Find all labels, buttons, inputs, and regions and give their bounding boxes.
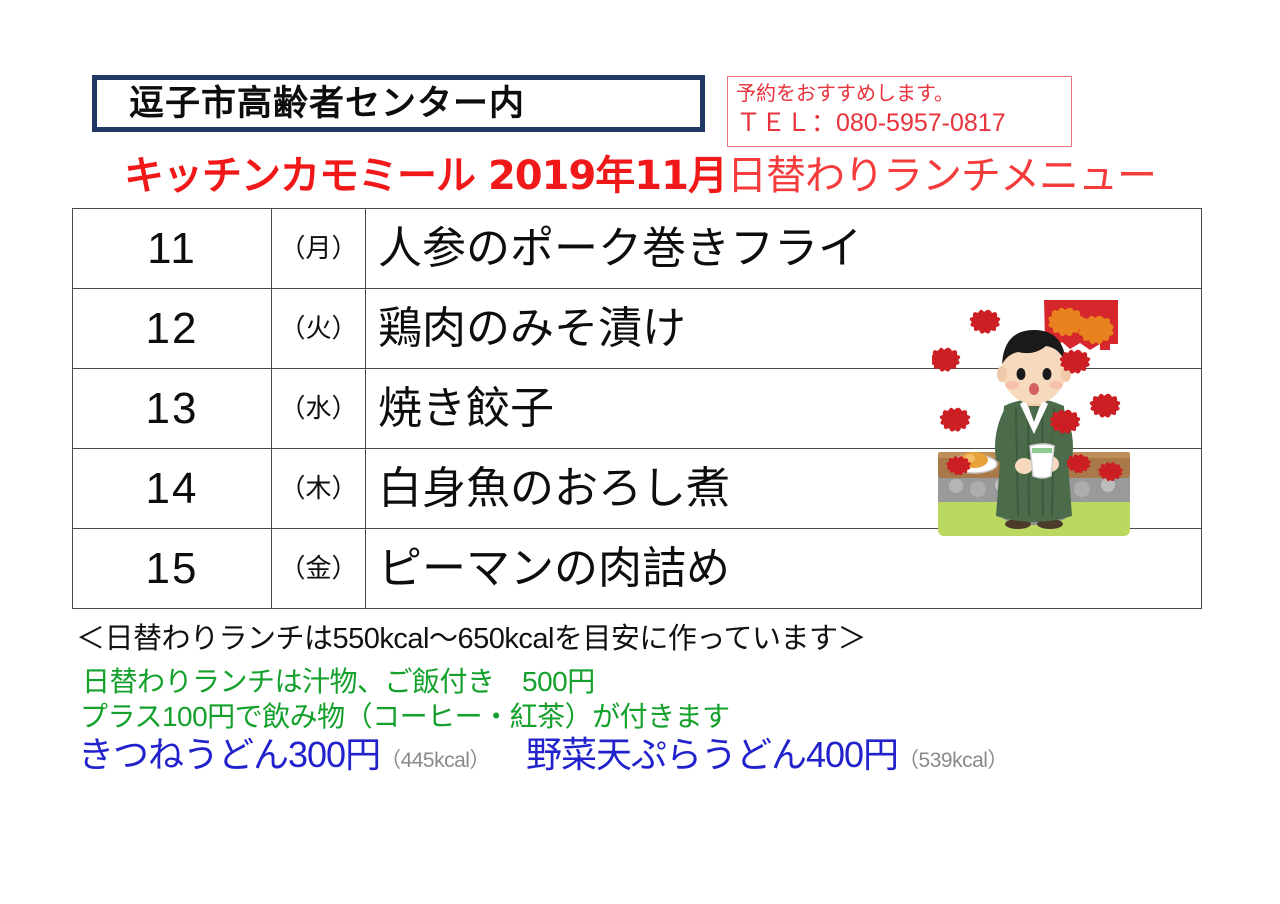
menu-date-cell: 15 bbox=[73, 529, 272, 609]
menu-day-cell: （木） bbox=[272, 449, 366, 529]
menu-day-cell: （月） bbox=[272, 209, 366, 289]
menu-item-cell: 鶏肉のみそ漬け bbox=[366, 289, 1202, 369]
udon-item-kcal: （539kcal） bbox=[898, 749, 1008, 772]
menu-day-label: （木） bbox=[279, 474, 357, 504]
menu-date-cell: 11 bbox=[73, 209, 272, 289]
table-row: 15 （金） ピーマンの肉詰め bbox=[73, 529, 1202, 609]
menu-table-body: 11 （月） 人参のポーク巻きフライ 12 （火） 鶏肉のみそ漬け 13 （水）… bbox=[73, 209, 1202, 609]
menu-item-label: 鶏肉のみそ漬け bbox=[366, 307, 686, 351]
menu-day-cell: （火） bbox=[272, 289, 366, 369]
menu-item-cell: 焼き餃子 bbox=[366, 369, 1202, 449]
table-row: 14 （木） 白身魚のおろし煮 bbox=[73, 449, 1202, 529]
kcal-range-note: ＜日替わりランチは550kcal～650kcalを目安に作っています＞ bbox=[76, 625, 866, 654]
lunch-price-note: 日替わりランチは汁物、ご飯付き 500円 bbox=[82, 668, 595, 696]
menu-date-label: 12 bbox=[146, 304, 199, 353]
page-title-menu-kind: 日替わりランチメニュー bbox=[727, 154, 1156, 198]
menu-date-label: 14 bbox=[146, 464, 199, 513]
menu-item-label: ピーマンの肉詰め bbox=[366, 547, 730, 591]
menu-day-label: （水） bbox=[279, 394, 357, 424]
menu-date-cell: 12 bbox=[73, 289, 272, 369]
menu-item-label: 白身魚のおろし煮 bbox=[366, 467, 730, 511]
menu-day-cell: （金） bbox=[272, 529, 366, 609]
reservation-note-label: 予約をおすすめします。 bbox=[736, 81, 1071, 108]
udon-item-name: 野菜天ぷらうどん400円 bbox=[526, 734, 898, 775]
menu-item-cell: ピーマンの肉詰め bbox=[366, 529, 1202, 609]
table-row: 12 （火） 鶏肉のみそ漬け bbox=[73, 289, 1202, 369]
menu-date-cell: 13 bbox=[73, 369, 272, 449]
venue-name-label: 逗子市高齢者センター内 bbox=[97, 86, 525, 121]
menu-item-cell: 白身魚のおろし煮 bbox=[366, 449, 1202, 529]
udon-item-name: きつねうどん300円 bbox=[78, 734, 380, 775]
udon-price-row: きつねうどん300円（445kcal）野菜天ぷらうどん400円（539kcal） bbox=[78, 737, 1198, 773]
drink-addon-note: プラス100円で飲み物（コーヒー・紅茶）が付きます bbox=[80, 703, 730, 731]
table-row: 11 （月） 人参のポーク巻きフライ bbox=[73, 209, 1202, 289]
page-title: キッチンカモミール 2019年11月日替わりランチメニュー bbox=[0, 156, 1280, 196]
menu-date-label: 15 bbox=[146, 544, 199, 593]
menu-day-label: （金） bbox=[279, 554, 357, 584]
menu-date-label: 13 bbox=[146, 384, 199, 433]
daily-lunch-menu-table: 11 （月） 人参のポーク巻きフライ 12 （火） 鶏肉のみそ漬け 13 （水）… bbox=[72, 208, 1202, 609]
page-title-shop-and-date: キッチンカモミール 2019年11月 bbox=[124, 153, 727, 199]
reservation-phone-box: 予約をおすすめします。 ＴＥＬ：080-5957-0817 bbox=[727, 76, 1072, 147]
menu-item-label: 人参のポーク巻きフライ bbox=[366, 227, 862, 271]
menu-item-cell: 人参のポーク巻きフライ bbox=[366, 209, 1202, 289]
udon-item-kcal: （445kcal） bbox=[380, 749, 490, 772]
menu-date-label: 11 bbox=[147, 224, 197, 273]
table-row: 13 （水） 焼き餃子 bbox=[73, 369, 1202, 449]
menu-day-label: （火） bbox=[279, 314, 357, 344]
venue-name-box: 逗子市高齢者センター内 bbox=[92, 75, 705, 132]
telephone-number-label: ＴＥＬ：080-5957-0817 bbox=[736, 108, 1071, 139]
menu-date-cell: 14 bbox=[73, 449, 272, 529]
menu-item-label: 焼き餃子 bbox=[366, 387, 554, 431]
menu-day-cell: （水） bbox=[272, 369, 366, 449]
menu-day-label: （月） bbox=[279, 234, 357, 264]
